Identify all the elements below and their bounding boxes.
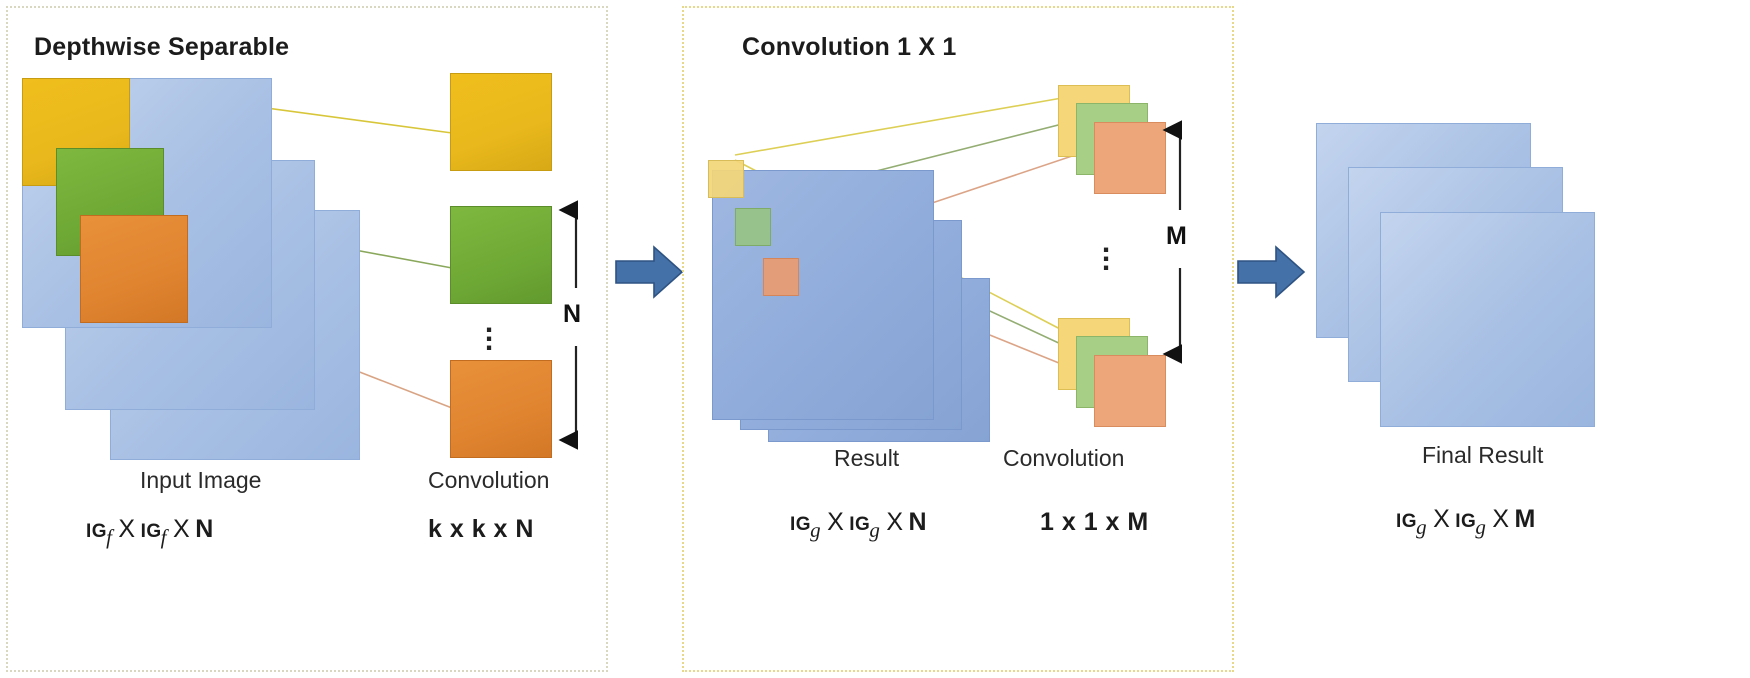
formula-input-channels: N <box>195 515 214 543</box>
formula-input-ig-2: IG <box>141 521 162 542</box>
caption-input-image: Input Image <box>140 467 261 494</box>
conv-filter-orange <box>450 360 552 458</box>
formula-result-channels: N <box>909 508 928 536</box>
conv-filter-ellipsis: ... <box>479 318 499 345</box>
conv1x1-filter-ellipsis: ... <box>1096 238 1116 265</box>
formula-final-sub-1: g <box>1416 515 1427 539</box>
formula-result-sub-2: g <box>869 518 880 542</box>
depthwise-kernel-orange <box>80 215 188 323</box>
formula-result-op-1: X <box>822 508 849 536</box>
formula-result-ig-1: IG <box>790 514 811 535</box>
formula-input-sub-1: f <box>106 525 112 549</box>
caption-convolution-1: Convolution <box>428 467 549 494</box>
formula-kernel-1: k x k x N <box>428 515 534 544</box>
formula-result-op-2: X <box>881 508 908 536</box>
formula-final-ig-2: IG <box>1455 511 1476 532</box>
formula-kernel-2: 1 x 1 x M <box>1040 508 1149 537</box>
caption-final-result: Final Result <box>1422 442 1543 469</box>
result-cell-orange <box>763 258 799 296</box>
dimension-label-m: M <box>1166 222 1187 251</box>
formula-final: IGgXIGgXM <box>1396 505 1536 534</box>
formula-input-sub-2: f <box>161 525 167 549</box>
conv1x1-filter-top-orange <box>1094 122 1166 194</box>
flow-arrow-1 <box>614 243 684 301</box>
formula-result: IGgXIGgXN <box>790 508 927 537</box>
formula-input-op-1: X <box>113 515 140 543</box>
formula-input-image: IGfXIGfXN <box>86 515 214 544</box>
final-plane-3 <box>1380 212 1595 427</box>
diagram-canvas: Depthwise Separable ... N Input Image Co… <box>0 0 1750 678</box>
result-cell-green <box>735 208 771 246</box>
formula-input-ig-1: IG <box>86 521 107 542</box>
formula-final-sub-2: g <box>1475 515 1486 539</box>
caption-convolution-2: Convolution <box>1003 445 1124 472</box>
result-cell-yellow <box>708 160 744 198</box>
dimension-label-n: N <box>563 300 581 329</box>
formula-final-op-1: X <box>1428 505 1455 533</box>
caption-result: Result <box>834 445 899 472</box>
formula-final-op-2: X <box>1487 505 1514 533</box>
formula-input-op-2: X <box>168 515 195 543</box>
conv1x1-filter-bottom-orange <box>1094 355 1166 427</box>
conv-filter-green <box>450 206 552 304</box>
formula-result-ig-2: IG <box>849 514 870 535</box>
panel-title-convolution-1x1: Convolution 1 X 1 <box>742 33 957 62</box>
formula-final-channels: M <box>1515 505 1536 533</box>
conv-filter-yellow <box>450 73 552 171</box>
formula-final-ig-1: IG <box>1396 511 1417 532</box>
formula-result-sub-1: g <box>810 518 821 542</box>
panel-title-depthwise: Depthwise Separable <box>34 33 289 62</box>
